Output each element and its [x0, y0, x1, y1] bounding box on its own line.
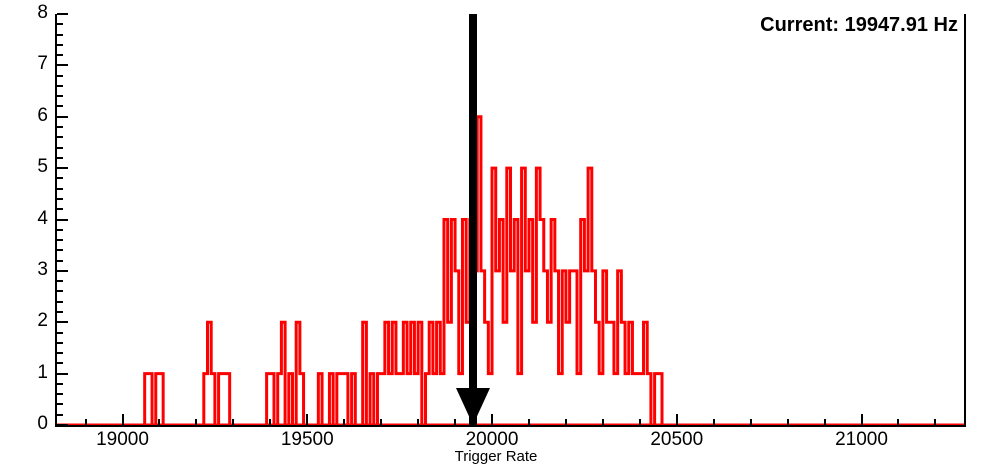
y-axis-major-tick [57, 321, 68, 323]
y-axis-tick-label: 6 [8, 105, 48, 127]
y-axis-minor-tick [57, 301, 63, 303]
histogram-canvas: Current: 19947.91 Hz 1900019500200002050… [0, 0, 996, 472]
x-axis-tick-label: 19500 [237, 429, 377, 451]
y-axis-minor-tick [57, 188, 63, 190]
x-axis-tick-label: 21000 [792, 429, 932, 451]
x-axis-minor-tick [639, 419, 641, 425]
y-axis-minor-tick [57, 147, 63, 149]
y-axis-minor-tick [57, 414, 63, 416]
x-axis-minor-tick [934, 419, 936, 425]
y-axis-minor-tick [57, 136, 63, 138]
y-axis-minor-tick [57, 280, 63, 282]
y-axis-tick-label: 1 [8, 362, 48, 384]
y-axis-major-tick [57, 219, 68, 221]
y-axis-minor-tick [57, 23, 63, 25]
x-axis-tick-label: 20500 [607, 429, 747, 451]
x-axis-minor-tick [824, 419, 826, 425]
x-axis-minor-tick [713, 419, 715, 425]
y-axis-major-tick [57, 116, 68, 118]
y-axis-minor-tick [57, 126, 63, 128]
x-axis-minor-tick [380, 419, 382, 425]
x-axis-minor-tick [85, 419, 87, 425]
y-axis-tick-label: 3 [8, 259, 48, 281]
x-axis-minor-tick [232, 419, 234, 425]
y-axis-minor-tick [57, 249, 63, 251]
y-axis-minor-tick [57, 54, 63, 56]
y-axis-major-tick [57, 373, 68, 375]
y-axis-minor-tick [57, 383, 63, 385]
y-axis-minor-tick [57, 34, 63, 36]
x-axis-minor-tick [195, 419, 197, 425]
plot-frame-right [964, 14, 966, 427]
y-axis-minor-tick [57, 403, 63, 405]
y-axis-minor-tick [57, 85, 63, 87]
x-axis-minor-tick [750, 419, 752, 425]
current-value-marker-shaft [469, 14, 477, 425]
x-axis-major-tick [676, 414, 678, 425]
y-axis-tick-label: 5 [8, 156, 48, 178]
x-axis-major-tick [122, 414, 124, 425]
x-axis-tick-label: 19000 [53, 429, 193, 451]
y-axis-minor-tick [57, 290, 63, 292]
x-axis-minor-tick [565, 419, 567, 425]
y-axis-tick-label: 8 [8, 2, 48, 24]
y-axis-minor-tick [57, 311, 63, 313]
histogram-outline [145, 117, 662, 425]
x-axis-minor-tick [602, 419, 604, 425]
x-axis-major-tick [861, 414, 863, 425]
histogram-series [56, 117, 965, 425]
y-axis-tick-label: 7 [8, 53, 48, 75]
y-axis-tick-label: 0 [8, 413, 48, 435]
y-axis-major-tick [57, 270, 68, 272]
y-axis-minor-tick [57, 393, 63, 395]
x-axis-minor-tick [343, 419, 345, 425]
x-axis-major-tick [306, 414, 308, 425]
x-axis-minor-tick [787, 419, 789, 425]
current-value-marker-arrowhead [456, 388, 490, 425]
y-axis-minor-tick [57, 198, 63, 200]
x-axis-minor-tick [417, 419, 419, 425]
y-axis-tick-label: 4 [8, 208, 48, 230]
x-axis-title: Trigger Rate [426, 448, 566, 465]
y-axis-minor-tick [57, 229, 63, 231]
y-axis-minor-tick [57, 157, 63, 159]
y-axis-minor-tick [57, 260, 63, 262]
y-axis-minor-tick [57, 75, 63, 77]
x-axis-minor-tick [269, 419, 271, 425]
y-axis-minor-tick [57, 44, 63, 46]
y-axis-major-tick [57, 167, 68, 169]
y-axis-major-tick [57, 424, 68, 426]
x-axis-minor-tick [897, 419, 899, 425]
y-axis-major-tick [57, 64, 68, 66]
y-axis-minor-tick [57, 105, 63, 107]
y-axis-tick-label: 2 [8, 310, 48, 332]
y-axis-minor-tick [57, 362, 63, 364]
x-axis-major-tick [491, 414, 493, 425]
x-axis-minor-tick [528, 419, 530, 425]
y-axis-minor-tick [57, 177, 63, 179]
y-axis-minor-tick [57, 332, 63, 334]
y-axis-minor-tick [57, 352, 63, 354]
y-axis-major-tick [57, 13, 68, 15]
x-axis-minor-tick [158, 419, 160, 425]
y-axis-minor-tick [57, 95, 63, 97]
histogram-plot-area [0, 0, 996, 472]
y-axis-minor-tick [57, 208, 63, 210]
x-axis-line [55, 425, 966, 427]
y-axis-minor-tick [57, 342, 63, 344]
y-axis-minor-tick [57, 239, 63, 241]
